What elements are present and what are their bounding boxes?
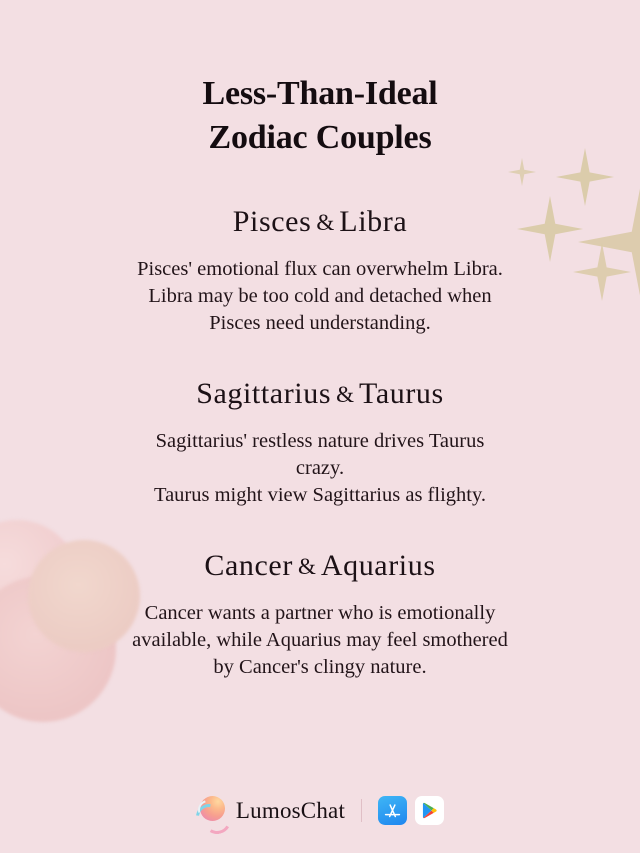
couple-sign-b: Taurus	[359, 377, 444, 410]
zodiac-couples-poster: Less-Than-Ideal Zodiac Couples Pisces&Li…	[0, 0, 640, 853]
couple-sign-a: Sagittarius	[196, 377, 331, 410]
footer-divider	[361, 799, 362, 822]
page-title-line-2: Zodiac Couples	[202, 116, 437, 160]
couple-separator: &	[331, 382, 359, 407]
couple-heading: Sagittarius&Taurus	[34, 376, 606, 412]
page-title-line-1: Less-Than-Ideal	[202, 72, 437, 116]
couple-sign-b: Aquarius	[321, 549, 436, 582]
couple-description: Sagittarius' restless nature drives Taur…	[55, 428, 585, 508]
couple-description: Pisces' emotional flux can overwhelm Lib…	[55, 256, 585, 336]
couple-separator: &	[293, 554, 321, 579]
brand-name: LumosChat	[236, 799, 345, 822]
apple-app-store-icon[interactable]	[378, 796, 407, 825]
couple-sign-a: Pisces	[233, 205, 312, 238]
couple-entry-cancer-aquarius: Cancer&Aquarius Cancer wants a partner w…	[34, 548, 606, 680]
store-badges	[378, 796, 444, 825]
couple-entry-pisces-libra: Pisces&Libra Pisces' emotional flux can …	[34, 204, 606, 336]
brand-lockup: LumosChat	[196, 794, 345, 826]
couple-heading: Cancer&Aquarius	[34, 548, 606, 584]
lumoschat-sphere-icon	[196, 794, 228, 826]
page-title: Less-Than-Ideal Zodiac Couples	[202, 0, 437, 160]
poster-content: Less-Than-Ideal Zodiac Couples Pisces&Li…	[0, 0, 640, 853]
couples-list: Pisces&Libra Pisces' emotional flux can …	[34, 204, 606, 680]
couple-sign-a: Cancer	[204, 549, 293, 582]
google-play-store-icon[interactable]	[415, 796, 444, 825]
couple-sign-b: Libra	[339, 205, 407, 238]
couple-description: Cancer wants a partner who is emotionall…	[55, 600, 585, 680]
footer-branding-bar: LumosChat	[0, 794, 640, 826]
couple-heading: Pisces&Libra	[34, 204, 606, 240]
couple-entry-sagittarius-taurus: Sagittarius&Taurus Sagittarius' restless…	[34, 376, 606, 508]
couple-separator: &	[311, 210, 339, 235]
